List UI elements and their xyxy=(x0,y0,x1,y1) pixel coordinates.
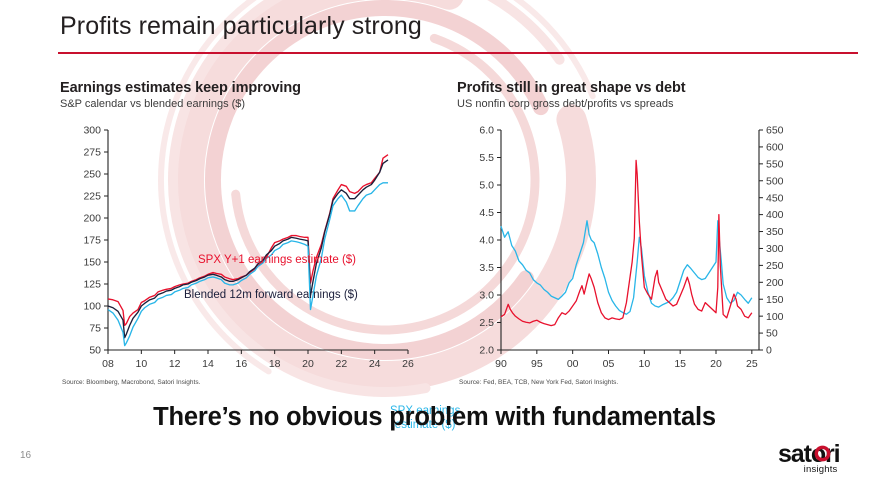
svg-text:350: 350 xyxy=(766,226,784,238)
svg-text:22: 22 xyxy=(335,358,347,370)
svg-text:650: 650 xyxy=(766,125,784,137)
svg-text:5.5: 5.5 xyxy=(479,152,494,164)
svg-text:100: 100 xyxy=(766,311,784,323)
svg-text:24: 24 xyxy=(369,358,381,370)
left-chart-panel: Earnings estimates keep improving S&P ca… xyxy=(60,80,420,378)
debt-profits-spreads-chart: 2.02.53.03.54.04.55.05.56.0 050100150200… xyxy=(457,118,817,378)
svg-text:18: 18 xyxy=(269,358,281,370)
right-chart-subheading: US nonfin corp gross debt/profits vs spr… xyxy=(457,98,817,110)
svg-text:200: 200 xyxy=(83,213,101,225)
svg-text:500: 500 xyxy=(766,175,784,187)
svg-text:0: 0 xyxy=(766,345,772,357)
svg-text:12: 12 xyxy=(169,358,181,370)
svg-text:250: 250 xyxy=(83,169,101,181)
right-chart-heading: Profits still in great shape vs debt xyxy=(457,80,817,96)
svg-text:225: 225 xyxy=(83,191,101,203)
svg-text:05: 05 xyxy=(603,358,615,370)
svg-text:2.5: 2.5 xyxy=(479,317,494,329)
left-plot-area: 5075100125150175200225250275300 08101214… xyxy=(60,118,420,378)
right-chart-panel: Profits still in great shape vs debt US … xyxy=(457,80,817,378)
left-chart-subheading: S&P calendar vs blended earnings ($) xyxy=(60,98,420,110)
svg-text:4.5: 4.5 xyxy=(479,207,494,219)
title-underline xyxy=(58,52,858,54)
svg-text:150: 150 xyxy=(766,294,784,306)
svg-text:250: 250 xyxy=(766,260,784,272)
svg-text:10: 10 xyxy=(638,358,650,370)
svg-text:6.0: 6.0 xyxy=(479,125,494,137)
svg-text:3.0: 3.0 xyxy=(479,290,494,302)
slide-tagline: There’s no obvious problem with fundamen… xyxy=(0,403,869,432)
svg-text:3.5: 3.5 xyxy=(479,262,494,274)
svg-text:20: 20 xyxy=(302,358,314,370)
svg-text:300: 300 xyxy=(766,243,784,255)
earnings-estimates-chart: 5075100125150175200225250275300 08101214… xyxy=(60,118,420,378)
svg-text:5.0: 5.0 xyxy=(479,180,494,192)
svg-text:16: 16 xyxy=(235,358,247,370)
svg-text:175: 175 xyxy=(83,235,101,247)
svg-text:26: 26 xyxy=(402,358,414,370)
left-chart-source: Source: Bloomberg, Macrobond, Satori Ins… xyxy=(62,379,200,386)
svg-text:50: 50 xyxy=(89,345,101,357)
spx-y1-estimate-label: SPX Y+1 earnings estimate ($) xyxy=(198,254,356,268)
svg-text:600: 600 xyxy=(766,142,784,154)
svg-text:550: 550 xyxy=(766,158,784,170)
svg-text:400: 400 xyxy=(766,209,784,221)
svg-text:14: 14 xyxy=(202,358,214,370)
svg-text:08: 08 xyxy=(102,358,114,370)
right-plot-area: 2.02.53.03.54.04.55.05.56.0 050100150200… xyxy=(457,118,817,378)
blended-forward-label: Blended 12m forward earnings ($) xyxy=(184,289,358,303)
logo-ring-icon xyxy=(814,445,831,462)
svg-text:15: 15 xyxy=(674,358,686,370)
svg-text:50: 50 xyxy=(766,328,778,340)
svg-text:90: 90 xyxy=(495,358,507,370)
svg-text:20: 20 xyxy=(710,358,722,370)
svg-text:00: 00 xyxy=(567,358,579,370)
svg-text:25: 25 xyxy=(746,358,758,370)
svg-text:100: 100 xyxy=(83,301,101,313)
svg-text:95: 95 xyxy=(531,358,543,370)
right-chart-source: Source: Fed, BEA, TCB, New York Fed, Sat… xyxy=(459,379,618,386)
svg-text:200: 200 xyxy=(766,277,784,289)
left-chart-heading: Earnings estimates keep improving xyxy=(60,80,420,96)
svg-text:450: 450 xyxy=(766,192,784,204)
svg-text:150: 150 xyxy=(83,257,101,269)
svg-text:300: 300 xyxy=(83,125,101,137)
svg-text:275: 275 xyxy=(83,147,101,159)
svg-text:125: 125 xyxy=(83,279,101,291)
slide-root: Profits remain particularly strong Earni… xyxy=(0,0,869,487)
page-number: 16 xyxy=(20,450,31,461)
svg-text:10: 10 xyxy=(135,358,147,370)
logo-subtext: insights xyxy=(804,464,838,475)
svg-text:2.0: 2.0 xyxy=(479,345,494,357)
satori-insights-logo: satori insights xyxy=(778,442,839,467)
slide-title: Profits remain particularly strong xyxy=(60,12,422,41)
svg-text:4.0: 4.0 xyxy=(479,235,494,247)
svg-text:75: 75 xyxy=(89,323,101,335)
